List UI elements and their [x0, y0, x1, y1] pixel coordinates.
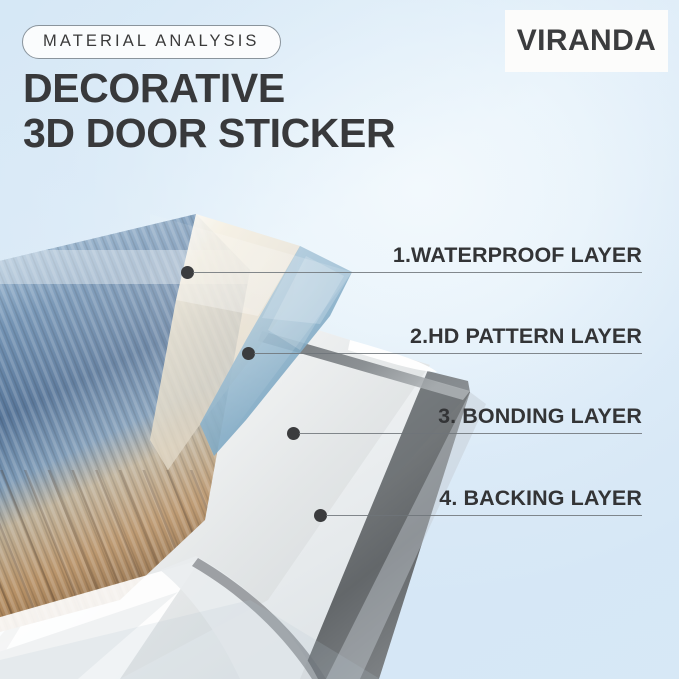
- infographic-canvas: MATERIAL ANALYSIS DECORATIVE 3D DOOR STI…: [0, 0, 679, 679]
- brand-name: VIRANDA: [517, 26, 656, 56]
- callout-label-hd-pattern-layer: 2.HD PATTERN LAYER: [410, 324, 642, 349]
- backing-layer-shape: [0, 330, 470, 679]
- brand-logo-box: VIRANDA: [505, 10, 668, 72]
- callout-label-waterproof-layer: 1.WATERPROOF LAYER: [393, 243, 642, 268]
- callout-leader-line: [254, 353, 642, 354]
- page-title-line-1: DECORATIVE: [23, 65, 285, 111]
- printed-photo: [0, 190, 300, 679]
- callout-leader-line: [193, 272, 642, 273]
- callout-leader-line: [299, 433, 642, 434]
- callout-label-bonding-layer: 3. BONDING LAYER: [438, 404, 642, 429]
- material-analysis-badge: MATERIAL ANALYSIS: [22, 25, 281, 59]
- page-title: DECORATIVE 3D DOOR STICKER: [23, 68, 395, 153]
- callout-label-backing-layer: 4. BACKING LAYER: [439, 486, 642, 511]
- page-title-line-2: 3D DOOR STICKER: [23, 113, 395, 154]
- hd-pattern-film-shape: [200, 246, 352, 456]
- callout-leader-line: [326, 515, 642, 516]
- waterproof-film-shape: [150, 214, 300, 470]
- bonding-layer-shape: [6, 300, 430, 679]
